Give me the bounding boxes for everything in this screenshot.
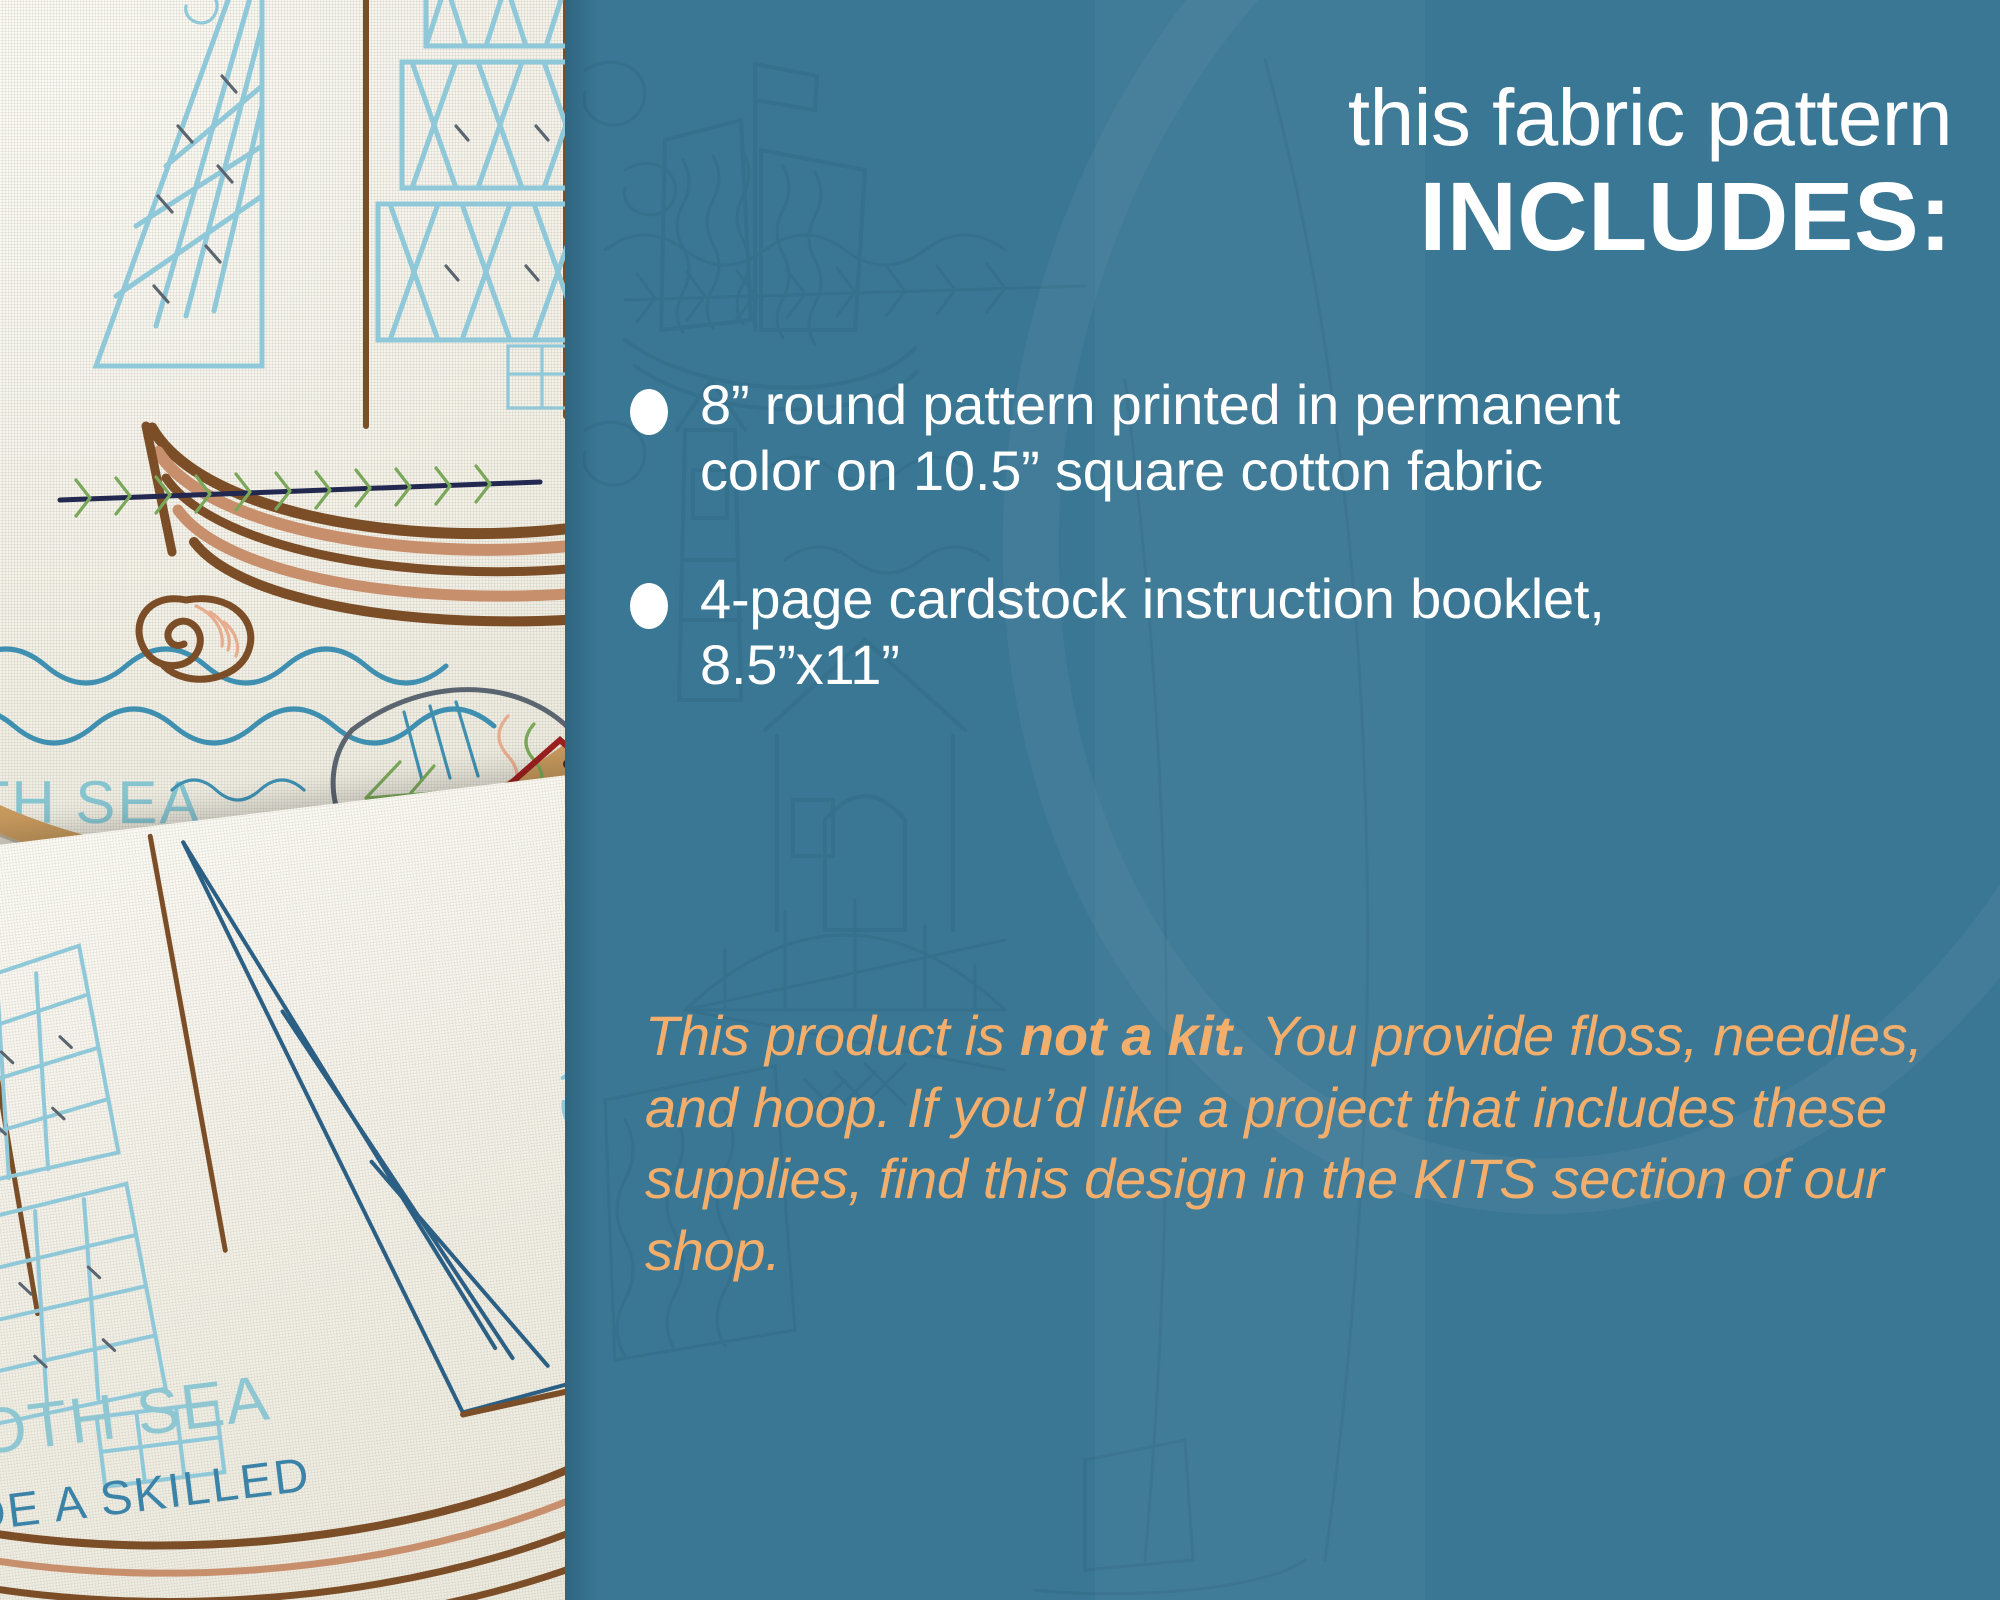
heading-line-2: INCLUDES:: [1419, 168, 1952, 265]
not-a-kit-note: This product is not a kit. You provide f…: [645, 1000, 1975, 1287]
includes-list: 8” round pattern printed in permanent co…: [630, 372, 1980, 750]
panel-content: this fabric pattern INCLUDES: 8” round p…: [565, 0, 2000, 1600]
list-item-label: 8” round pattern printed in permanent co…: [700, 372, 1650, 504]
info-panel: this fabric pattern INCLUDES: 8” round p…: [565, 0, 2000, 1600]
note-text-before: This product is: [645, 1004, 1020, 1067]
list-item: 8” round pattern printed in permanent co…: [630, 372, 1980, 504]
list-item-label: 4-page cardstock instruction booklet, 8.…: [700, 566, 1760, 698]
bullet-dot-icon: [630, 389, 668, 435]
heading-line-1: this fabric pattern: [1348, 78, 1952, 158]
note-emphasis: not a kit.: [1020, 1004, 1247, 1067]
list-item: 4-page cardstock instruction booklet, 8.…: [630, 566, 1980, 698]
promo-graphic: A SMOOTH SEA NEVER MADE A SKILLED: [0, 0, 2000, 1600]
bullet-dot-icon: [630, 583, 668, 629]
